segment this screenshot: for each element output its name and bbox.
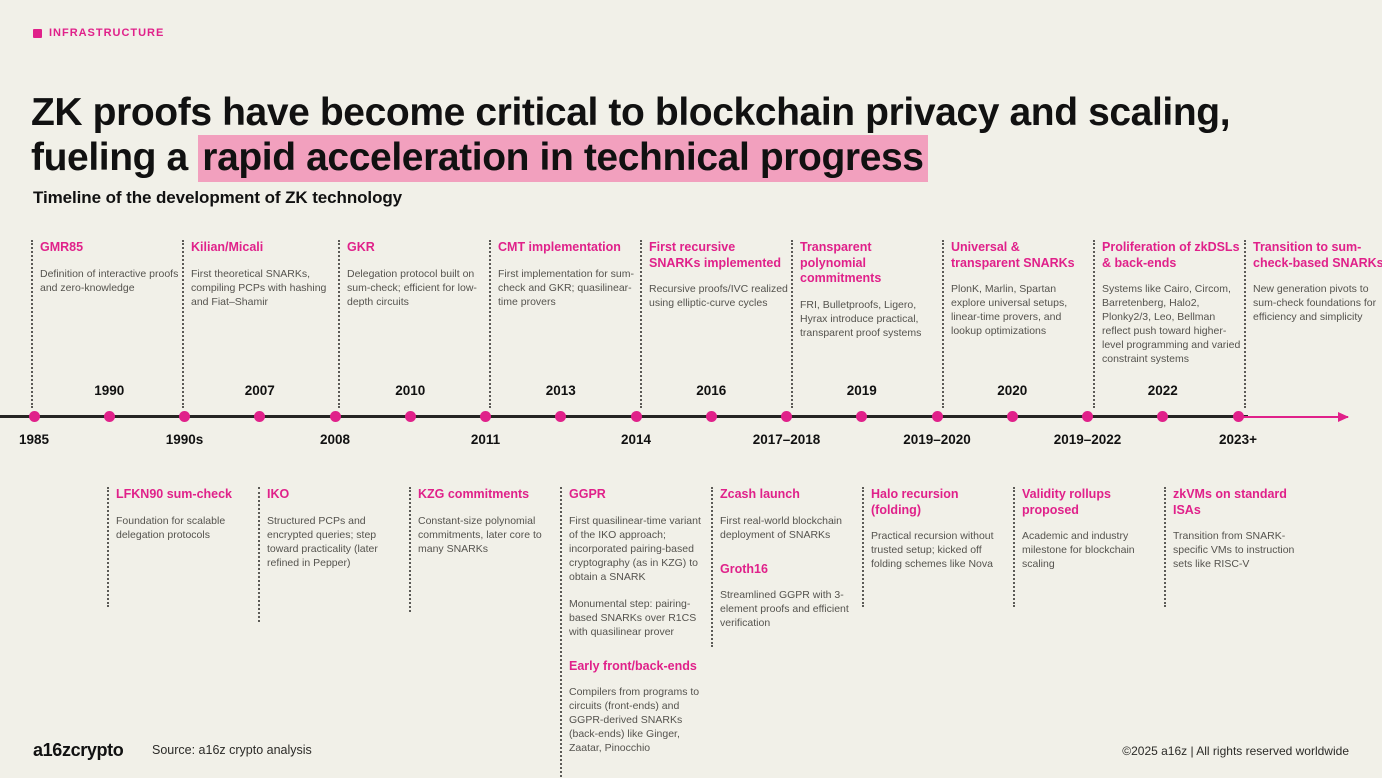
timeline-year-below: 1990s [166,432,204,447]
leader-line [560,487,562,777]
leader-line [31,240,33,408]
timeline-entry: GMR85Definition of interactive proofs an… [40,240,180,295]
timeline-sub-entry: Zcash launchFirst real-world blockchain … [720,487,860,542]
entry-body: Systems like Cairo, Circom, Barretenberg… [1102,282,1242,366]
timeline-entry: Halo recursion (folding)Practical recurs… [871,487,1011,571]
timeline-marker-dot [104,411,115,422]
entry-body: First real-world blockchain deployment o… [720,514,860,542]
entry-title: KZG commitments [418,487,558,503]
leader-line [182,240,184,408]
timeline-sub-entry: LFKN90 sum-checkFoundation for scalable … [116,487,256,542]
timeline-sub-entry: zkVMs on standard ISAsTransition from SN… [1173,487,1313,571]
timeline-marker-dot [29,411,40,422]
timeline-year-below: 2019–2022 [1054,432,1122,447]
entry-body: Delegation protocol built on sum-check; … [347,267,487,309]
entry-title: CMT implementation [498,240,638,256]
chart-subtitle: Timeline of the development of ZK techno… [33,188,402,208]
timeline-sub-entry: Validity rollups proposedAcademic and in… [1022,487,1162,571]
leader-line [640,240,642,408]
entry-body: First quasilinear-time variant of the IK… [569,514,709,584]
timeline-year-below: 2008 [320,432,350,447]
entry-body: Streamlined GGPR with 3-element proofs a… [720,588,860,630]
entry-body: Structured PCPs and encrypted queries; s… [267,514,407,570]
timeline-marker-dot [179,411,190,422]
timeline-sub-entry: Groth16Streamlined GGPR with 3-element p… [720,562,860,631]
timeline-sub-entry: KZG commitmentsConstant-size polynomial … [418,487,558,556]
timeline-entry: LFKN90 sum-checkFoundation for scalable … [116,487,256,542]
entry-title: Proliferation of zkDSLs & back-ends [1102,240,1242,271]
entry-body: New generation pivots to sum-check found… [1253,282,1382,324]
timeline-entry: Zcash launchFirst real-world blockchain … [720,487,860,630]
timeline-year-above: 2019 [847,383,877,398]
timeline-year-above: 2020 [997,383,1027,398]
entry-title: Transparent polynomial commitments [800,240,940,287]
leader-line [258,487,260,622]
leader-line [1013,487,1015,607]
eyebrow-label: INFRASTRUCTURE [49,27,164,39]
timeline-arrow-icon [1240,416,1348,418]
timeline-entry: CMT implementationFirst implementation f… [498,240,638,309]
timeline-entry: Transparent polynomial commitmentsFRI, B… [800,240,940,340]
entry-body: Foundation for scalable delegation proto… [116,514,256,542]
timeline-year-above: 1990 [94,383,124,398]
timeline-marker-dot [706,411,717,422]
leader-line [489,240,491,408]
brand-logo: a16zcrypto [33,740,123,761]
timeline-marker-dot [856,411,867,422]
timeline-sub-entry: GGPRFirst quasilinear-time variant of th… [569,487,709,639]
entry-title: GGPR [569,487,709,503]
timeline-marker-dot [480,411,491,422]
timeline-marker-dot [781,411,792,422]
entry-title: Groth16 [720,562,860,578]
timeline-marker-dot [1007,411,1018,422]
leader-line [409,487,411,612]
timeline-year-below: 2017–2018 [753,432,821,447]
timeline-year-below: 2019–2020 [903,432,971,447]
entry-title: IKO [267,487,407,503]
timeline-sub-entry: Halo recursion (folding)Practical recurs… [871,487,1011,571]
infographic-page: INFRASTRUCTURE ZK proofs have become cri… [0,0,1382,778]
eyebrow-square-icon [33,29,42,38]
entry-body: Compilers from programs to circuits (fro… [569,685,709,755]
entry-title: GKR [347,240,487,256]
timeline-entry: Universal & transparent SNARKsPlonK, Mar… [951,240,1091,338]
entry-title: First recursive SNARKs implemented [649,240,789,271]
leader-line [107,487,109,607]
entry-body: Monumental step: pairing-based SNARKs ov… [569,597,709,639]
entry-body: Academic and industry milestone for bloc… [1022,529,1162,571]
leader-line [338,240,340,408]
timeline-sub-entry: IKOStructured PCPs and encrypted queries… [267,487,407,570]
entry-body: Definition of interactive proofs and zer… [40,267,180,295]
entry-body: Practical recursion without trusted setu… [871,529,1011,571]
entry-title: Zcash launch [720,487,860,503]
entry-body: Constant-size polynomial commitments, la… [418,514,558,556]
timeline-year-above: 2007 [245,383,275,398]
entry-body: First implementation for sum-check and G… [498,267,638,309]
timeline-marker-dot [405,411,416,422]
timeline-marker-dot [631,411,642,422]
timeline-marker-dot [555,411,566,422]
timeline-entry: zkVMs on standard ISAsTransition from SN… [1173,487,1313,571]
leader-line [862,487,864,607]
entry-body: Transition from SNARK-specific VMs to in… [1173,529,1313,571]
leader-line [711,487,713,647]
entry-title: LFKN90 sum-check [116,487,256,503]
timeline-marker-dot [1233,411,1244,422]
timeline-year-below: 1985 [19,432,49,447]
leader-line [942,240,944,408]
timeline-sub-entry: Early front/back-endsCompilers from prog… [569,659,709,756]
timeline-marker-dot [932,411,943,422]
timeline-entry: IKOStructured PCPs and encrypted queries… [267,487,407,570]
source-note: Source: a16z crypto analysis [152,743,312,757]
leader-line [1164,487,1166,607]
entry-body: FRI, Bulletproofs, Ligero, Hyrax introdu… [800,298,940,340]
timeline-year-above: 2010 [395,383,425,398]
page-title: ZK proofs have become critical to blockc… [31,90,1351,180]
entry-title: Kilian/Micali [191,240,331,256]
entry-title: Validity rollups proposed [1022,487,1162,518]
timeline-year-above: 2013 [546,383,576,398]
entry-title: Universal & transparent SNARKs [951,240,1091,271]
timeline-marker-dot [1157,411,1168,422]
entry-title: Early front/back-ends [569,659,709,675]
timeline-marker-dot [330,411,341,422]
timeline-entry: First recursive SNARKs implementedRecurs… [649,240,789,310]
leader-line [1244,240,1246,408]
entry-title: Transition to sum-check-based SNARKs [1253,240,1382,271]
entry-body: PlonK, Marlin, Spartan explore universal… [951,282,1091,338]
copyright-note: ©2025 a16z | All rights reserved worldwi… [1122,744,1349,758]
timeline-entry: Transition to sum-check-based SNARKsNew … [1253,240,1382,324]
entry-body: Recursive proofs/IVC realized using elli… [649,282,789,310]
timeline-year-below: 2014 [621,432,651,447]
timeline-entry: KZG commitmentsConstant-size polynomial … [418,487,558,556]
entry-title: zkVMs on standard ISAs [1173,487,1313,518]
timeline-entry: GKRDelegation protocol built on sum-chec… [347,240,487,309]
timeline-entry: Proliferation of zkDSLs & back-endsSyste… [1102,240,1242,366]
timeline-entry: Kilian/MicaliFirst theoretical SNARKs, c… [191,240,331,309]
headline-highlight: rapid acceleration in technical progress [198,135,927,182]
timeline-year-below: 2023+ [1219,432,1257,447]
timeline-entry: GGPRFirst quasilinear-time variant of th… [569,487,709,755]
leader-line [791,240,793,408]
eyebrow: INFRASTRUCTURE [33,27,164,39]
timeline-year-below: 2011 [471,432,500,447]
timeline-marker-dot [1082,411,1093,422]
entry-title: Halo recursion (folding) [871,487,1011,518]
leader-line [1093,240,1095,408]
timeline-entry: Validity rollups proposedAcademic and in… [1022,487,1162,571]
entry-body: First theoretical SNARKs, compiling PCPs… [191,267,331,309]
timeline-year-above: 2022 [1148,383,1178,398]
timeline-year-above: 2016 [696,383,726,398]
timeline-marker-dot [254,411,265,422]
entry-title: GMR85 [40,240,180,256]
